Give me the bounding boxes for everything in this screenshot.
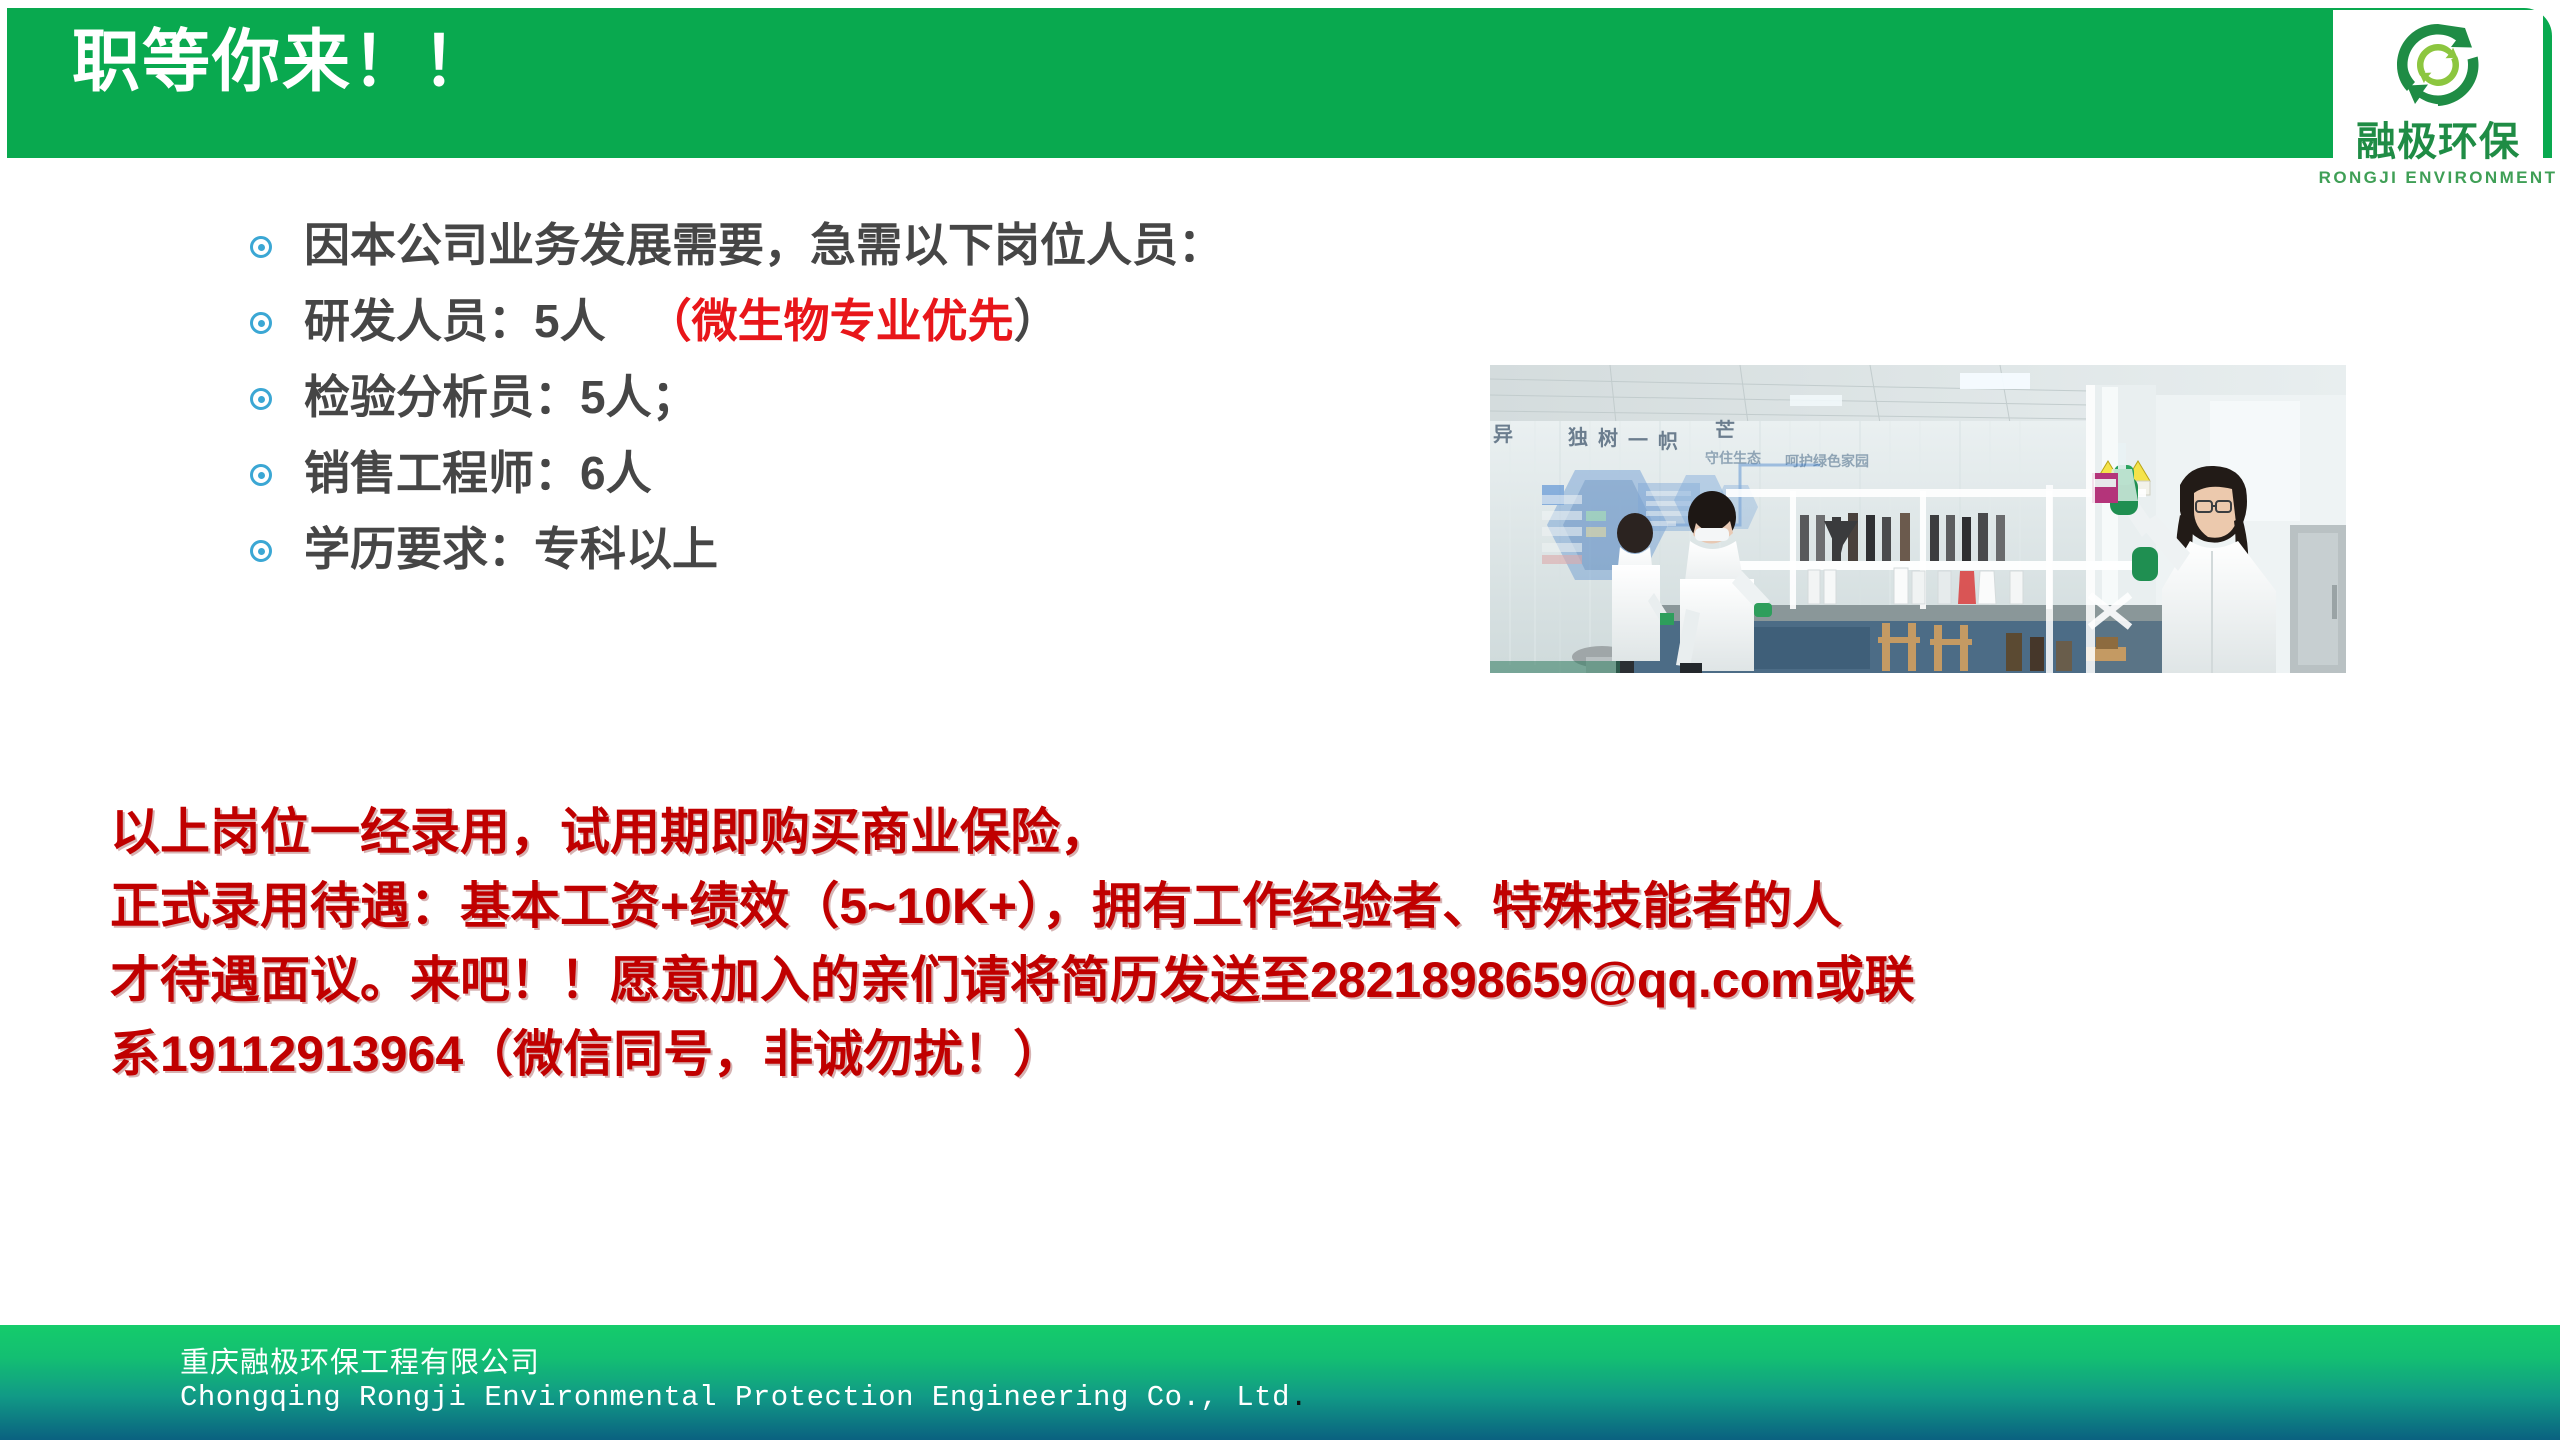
footer-company-en-text: Chongqing Rongji Environmental Protectio…	[180, 1381, 1290, 1414]
bullet-label-sales: 销售工程师：6人	[304, 450, 652, 496]
bullet-dot-icon	[250, 540, 272, 562]
svg-text:异: 异	[1493, 422, 1513, 446]
svg-text:一: 一	[1628, 428, 1648, 452]
footer-company-en: Chongqing Rongji Environmental Protectio…	[180, 1381, 1308, 1414]
recycle-circle-arrows-icon	[2382, 16, 2494, 120]
list-item: 销售工程师：6人	[250, 436, 1550, 510]
job-bullet-list: 因本公司业务发展需要，急需以下岗位人员： 研发人员：5人（微生物专业优先） 检验…	[250, 208, 1550, 586]
bullet-dot-icon	[250, 312, 272, 334]
list-item: 因本公司业务发展需要，急需以下岗位人员：	[250, 208, 1550, 282]
logo-name-cn: 融极环保	[2356, 122, 2520, 162]
rd-count-text: 研发人员：5人	[304, 295, 606, 347]
terms-line-2: 正式录用待遇：基本工资+绩效（5~10K+），拥有工作经验者、特殊技能者的人	[110, 869, 2510, 943]
page-title: 职等你来！！	[72, 27, 492, 98]
slide-recruitment-poster: 职等你来！！ 融极环保 RONGJI ENVIRONMENT 因本公	[0, 0, 2560, 1440]
list-item: 学历要求：专科以上	[250, 512, 1550, 586]
rd-close-paren: ）	[1014, 295, 1060, 347]
logo-name-en: RONGJI ENVIRONMENT	[2319, 169, 2558, 186]
recruitment-terms-paragraph: 以上岗位一经录用，试用期即购买商业保险， 正式录用待遇：基本工资+绩效（5~10…	[110, 795, 2510, 1091]
list-item: 检验分析员：5人；	[250, 360, 1550, 434]
bullet-label-analyst: 检验分析员：5人；	[304, 374, 698, 420]
footer-company-cn: 重庆融极环保工程有限公司	[180, 1339, 540, 1381]
footer-company-en-period: .	[1290, 1381, 1308, 1414]
bullet-dot-icon	[250, 388, 272, 410]
company-logo: 融极环保 RONGJI ENVIRONMENT	[2333, 10, 2543, 198]
svg-text:帜: 帜	[1658, 429, 1678, 453]
bullet-label-intro: 因本公司业务发展需要，急需以下岗位人员：	[304, 222, 1224, 268]
bullet-dot-icon	[250, 464, 272, 486]
laboratory-photo: 异 独树一帜 芒 守住生态 呵护绿色家园	[1490, 365, 2346, 673]
footer-bar: 重庆融极环保工程有限公司 Chongqing Rongji Environmen…	[0, 1325, 2560, 1440]
bullet-dot-icon	[250, 236, 272, 258]
terms-line-4: 系19112913964（微信同号，非诚勿扰！）	[110, 1017, 2510, 1091]
rd-highlight-text: （微生物专业优先	[646, 295, 1014, 347]
bullet-label-rd: 研发人员：5人（微生物专业优先）	[304, 298, 1060, 344]
bullet-label-education: 学历要求：专科以上	[304, 526, 718, 572]
svg-text:芒: 芒	[1715, 418, 1735, 442]
svg-text:呵护绿色家园: 呵护绿色家园	[1785, 453, 1869, 470]
list-item: 研发人员：5人（微生物专业优先）	[250, 284, 1550, 358]
terms-line-3: 才待遇面议。来吧！！愿意加入的亲们请将简历发送至2821898659@qq.co…	[110, 943, 2510, 1017]
terms-line-1: 以上岗位一经录用，试用期即购买商业保险，	[110, 795, 2510, 869]
svg-text:独: 独	[1568, 425, 1588, 449]
svg-text:树: 树	[1598, 426, 1618, 450]
